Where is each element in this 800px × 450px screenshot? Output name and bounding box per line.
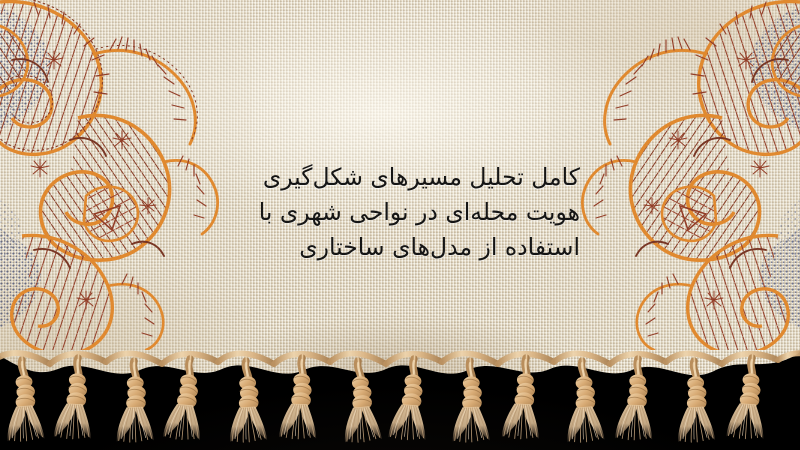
slide-title: کامل تحلیل مسیرهای شکل‌گیری هویت محله‌ای… <box>200 160 580 265</box>
title-line-2: هویت محله‌ای در نواحی شهری با <box>200 195 580 230</box>
knotted-tassel-fringe <box>0 330 800 450</box>
paisley-boteh-corner-right-icon <box>548 0 800 350</box>
title-slide: کامل تحلیل مسیرهای شکل‌گیری هویت محله‌ای… <box>0 0 800 450</box>
title-line-3: استفاده از مدل‌های ساختاری <box>200 230 580 265</box>
title-line-1: کامل تحلیل مسیرهای شکل‌گیری <box>200 160 580 195</box>
